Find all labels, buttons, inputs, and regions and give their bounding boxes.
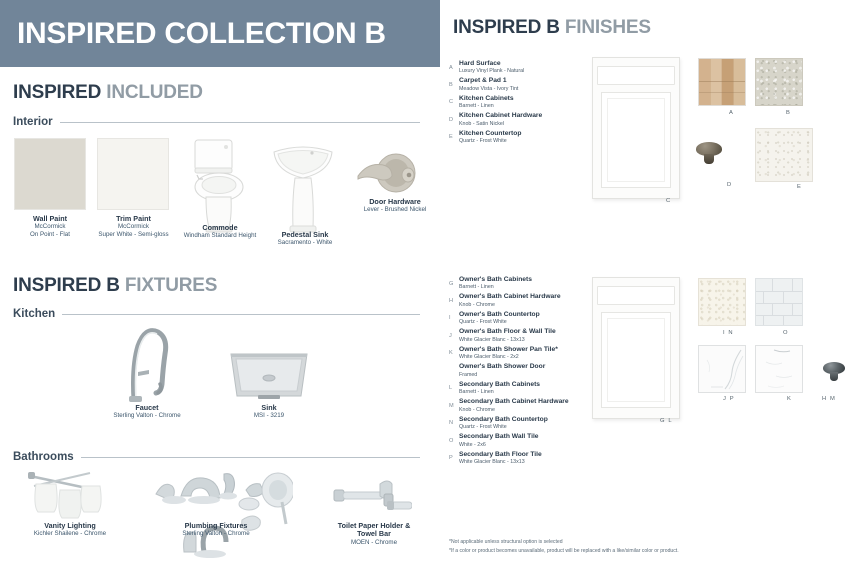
cabinet-panel: [601, 92, 672, 189]
toilet-icon: [186, 135, 252, 235]
finishes-heading-light: FINISHES: [565, 17, 651, 38]
pedestal-sink-label: Pedestal Sink Sacramento - White: [259, 231, 351, 247]
legend-item: Owner's Bath Shower Door Framed: [449, 363, 599, 378]
legend-item: N Secondary Bath Countertop Quartz - Fro…: [449, 416, 599, 431]
trim-paint-label: Trim Paint McCormick Super White - Semi-…: [86, 215, 181, 238]
finishes-heading: INSPIRED B FINISHES: [453, 17, 651, 39]
kitchen-label: Kitchen: [13, 308, 55, 320]
door-lever-icon: [352, 148, 420, 203]
legend-item: G Owner's Bath Cabinets Barnett - Linen: [449, 276, 599, 291]
right-column: INSPIRED B FINISHES A Hard Surface Luxur…: [440, 0, 853, 569]
legend-item: O Secondary Bath Wall Tile White - 2x6: [449, 433, 599, 448]
swatch-k-shower-pan-tile: [755, 345, 803, 393]
swatch-label-d: D: [727, 182, 732, 188]
commode-label: Commode Windham Standard Height: [174, 224, 266, 240]
swatch-d-knob: [696, 140, 722, 164]
trim-paint-swatch: [97, 138, 169, 210]
bathrooms-label: Bathrooms: [13, 451, 74, 463]
knob-stem: [830, 372, 839, 381]
divider-line: [81, 457, 420, 458]
swatch-label-k: K: [787, 396, 792, 402]
faucet-icon: [118, 320, 176, 402]
finishes-legend-top: A Hard Surface Luxury Vinyl Plank - Natu…: [449, 60, 597, 147]
legend-item: P Secondary Bath Floor Tile White Glacie…: [449, 451, 599, 466]
divider-line: [60, 122, 420, 123]
vanity-light-icon: [24, 468, 106, 520]
included-heading-bold: INSPIRED: [13, 82, 101, 103]
legend-item: I Owner's Bath Countertop Quartz - Frost…: [449, 311, 599, 326]
cabinet-panel: [601, 312, 672, 409]
towel-bar-icon: [328, 474, 412, 520]
marble-veining: [756, 346, 803, 393]
swatch-label-e: E: [797, 184, 802, 190]
marble-veining: [699, 346, 746, 393]
swatch-label-c: C: [666, 198, 671, 204]
faucet-label: Faucet Sterling Valton - Chrome: [100, 404, 194, 420]
swatch-e-quartz: [755, 128, 813, 182]
swatch-label-a: A: [729, 110, 734, 116]
finishes-heading-bold: INSPIRED B: [453, 17, 560, 38]
kitchen-subhead: Kitchen: [13, 308, 420, 320]
footnotes: *Not applicable unless structural option…: [449, 538, 849, 556]
wall-paint-label: Wall Paint McCormick On Point - Flat: [4, 215, 96, 238]
swatch-label-o: O: [783, 330, 789, 336]
legend-item: C Kitchen Cabinets Barnett - Linen: [449, 95, 597, 110]
legend-item: K Owner's Bath Shower Pan Tile* White Gl…: [449, 346, 599, 361]
legend-item: D Kitchen Cabinet Hardware Knob - Satin …: [449, 112, 597, 127]
swatch-label-jp: J P: [723, 396, 735, 402]
kitchen-sink-icon: [228, 350, 310, 402]
kitchen-cabinet-door-swatch: [592, 57, 680, 199]
swatch-label-in: I N: [723, 330, 734, 336]
swatch-in-quartz: [698, 278, 746, 326]
included-heading: INSPIRED INCLUDED: [13, 82, 203, 104]
bath-cabinet-door-swatch: [592, 277, 680, 419]
swatch-jp-marble-tile: [698, 345, 746, 393]
footnote-2: *If a color or product becomes unavailab…: [449, 547, 849, 556]
cabinet-drawer: [597, 66, 674, 84]
swatch-b-carpet: [755, 58, 803, 106]
swatch-o-subway-tile: [755, 278, 803, 326]
swatch-label-gl: G L: [660, 418, 673, 424]
swatch-hm-chrome-knob: [823, 360, 845, 381]
swatch-label-hm: H M: [822, 396, 836, 402]
legend-item: H Owner's Bath Cabinet Hardware Knob - C…: [449, 293, 599, 308]
legend-item: L Secondary Bath Cabinets Barnett - Line…: [449, 381, 599, 396]
left-column: INSPIRED COLLECTION B INSPIRED INCLUDED …: [0, 0, 440, 569]
plumbing-fixtures-icon: [148, 468, 293, 558]
interior-subhead: Interior: [13, 116, 420, 128]
swatch-label-b: B: [786, 110, 791, 116]
vanity-lighting-label: Vanity Lighting Kichler Shailene - Chrom…: [20, 522, 120, 538]
pedestal-sink-icon: [268, 140, 338, 235]
swatch-a-vinyl-plank: [698, 58, 746, 106]
divider-line: [62, 314, 420, 315]
wall-paint-swatch: [14, 138, 86, 210]
legend-item: E Kitchen Countertop Quartz - Frost Whit…: [449, 130, 597, 145]
plumbing-fixtures-label: Plumbing Fixtures Sterling Valton - Chro…: [156, 522, 276, 538]
finishes-legend-bottom: G Owner's Bath Cabinets Barnett - Linen …: [449, 276, 599, 468]
interior-label: Interior: [13, 116, 53, 128]
legend-item: J Owner's Bath Floor & Wall Tile White G…: [449, 328, 599, 343]
door-hardware-label: Door Hardware Lever - Brushed Nickel: [345, 198, 445, 214]
title-bar: INSPIRED COLLECTION B: [0, 0, 440, 67]
bathrooms-subhead: Bathrooms: [13, 451, 420, 463]
legend-item: B Carpet & Pad 1 Meadow Vista - Ivory Ti…: [449, 77, 597, 92]
included-heading-light: INCLUDED: [106, 82, 203, 103]
footnote-1: *Not applicable unless structural option…: [449, 538, 849, 547]
cabinet-drawer: [597, 286, 674, 304]
collection-sheet: INSPIRED COLLECTION B INSPIRED INCLUDED …: [0, 0, 853, 569]
toilet-paper-holder-label: Toilet Paper Holder & Towel Bar MOEN - C…: [320, 522, 428, 546]
knob-stem: [704, 154, 714, 164]
fixtures-heading-light: FIXTURES: [125, 275, 217, 296]
page-title: INSPIRED COLLECTION B: [0, 19, 386, 49]
sink-label: Sink MSI - 3219: [222, 404, 316, 420]
fixtures-heading-bold: INSPIRED B: [13, 275, 120, 296]
legend-item: A Hard Surface Luxury Vinyl Plank - Natu…: [449, 60, 597, 75]
fixtures-heading: INSPIRED B FIXTURES: [13, 275, 217, 297]
legend-item: M Secondary Bath Cabinet Hardware Knob -…: [449, 398, 599, 413]
